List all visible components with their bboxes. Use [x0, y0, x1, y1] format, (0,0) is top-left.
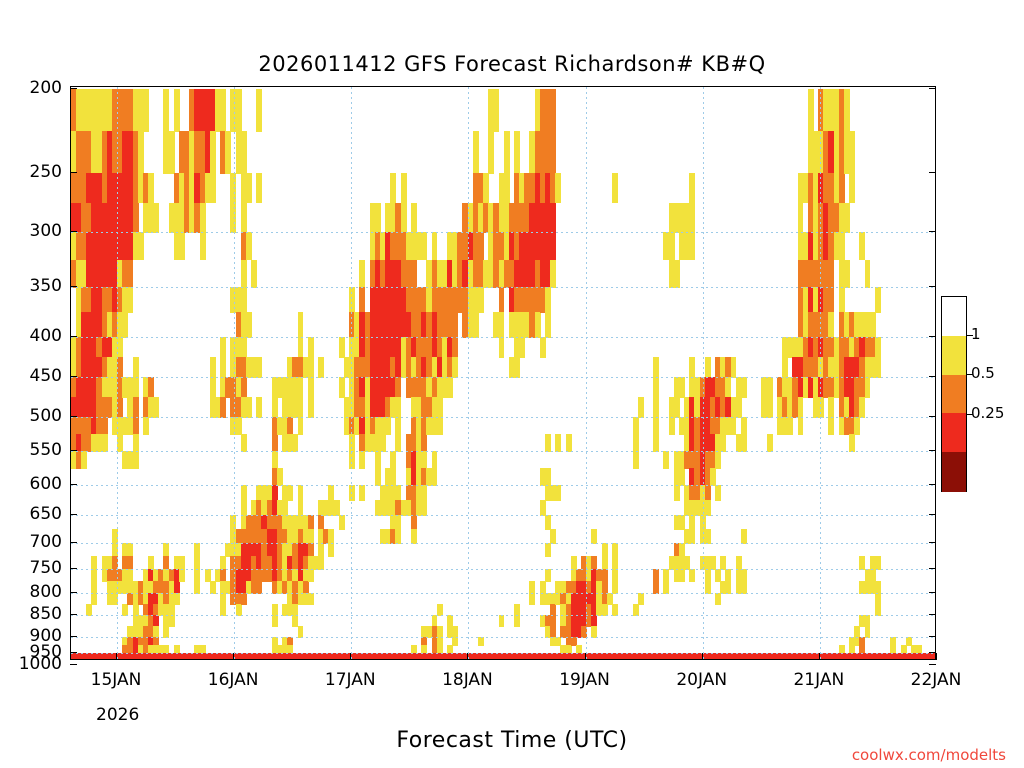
- heatmap-cell: [127, 659, 133, 660]
- heatmap-cell: [602, 659, 608, 660]
- heatmap-cell: [437, 626, 443, 638]
- heatmap-cell: [689, 659, 695, 660]
- heatmap-cell: [612, 659, 618, 660]
- y-axis-tick-right: [929, 636, 936, 637]
- heatmap-cell: [127, 287, 133, 313]
- x-axis-tick-label: 18JAN: [422, 670, 512, 690]
- grid-line-h: [71, 232, 935, 233]
- heatmap-cell: [859, 397, 865, 418]
- heatmap-cell: [844, 260, 850, 288]
- heatmap-cell: [705, 529, 711, 544]
- heatmap-cell: [282, 500, 288, 516]
- heatmap-cell: [705, 357, 711, 378]
- heatmap-cell: [653, 434, 659, 452]
- heatmap-cell: [194, 659, 200, 660]
- heatmap-cell: [442, 659, 448, 660]
- heatmap-cell: [839, 173, 845, 203]
- heatmap-cell: [220, 89, 226, 132]
- heatmap-cell: [514, 659, 520, 660]
- y-axis-tick-label: 350: [0, 276, 62, 296]
- heatmap-cell: [174, 89, 180, 132]
- heatmap-cell: [550, 89, 556, 132]
- heatmap-plot: [70, 86, 936, 660]
- heatmap-cell: [828, 659, 834, 660]
- heatmap-cell: [828, 260, 834, 288]
- heatmap-cell: [246, 173, 252, 203]
- colorbar: [941, 296, 967, 492]
- heatmap-cell: [499, 659, 505, 660]
- heatmap-cell: [849, 434, 855, 452]
- heatmap-cell: [133, 434, 139, 452]
- heatmap-cell: [359, 485, 365, 501]
- colorbar-tick-label: 0.25: [971, 404, 1004, 422]
- heatmap-cell: [354, 659, 360, 660]
- heatmap-cell: [798, 417, 804, 435]
- y-axis-tick-label: 200: [0, 78, 62, 98]
- heatmap-cell: [741, 417, 747, 435]
- heatmap-cell: [710, 659, 716, 660]
- heatmap-cell: [679, 543, 685, 557]
- heatmap-cell: [127, 556, 133, 570]
- heatmap-cell: [493, 659, 499, 660]
- heatmap-cell: [334, 500, 340, 516]
- heatmap-cell: [328, 485, 334, 501]
- heatmap-cell: [571, 659, 577, 660]
- heatmap-cell: [179, 659, 185, 660]
- colorbar-tick-label: 1: [971, 325, 981, 343]
- heatmap-cell: [401, 173, 407, 203]
- heatmap-cell: [689, 173, 695, 203]
- heatmap-cell: [602, 569, 608, 582]
- heatmap-cell: [447, 615, 453, 627]
- heatmap-cell: [133, 203, 139, 233]
- grid-line-h: [71, 569, 935, 570]
- heatmap-cell: [741, 569, 747, 582]
- heatmap-cell: [91, 569, 97, 582]
- heatmap-cell: [318, 543, 324, 557]
- y-axis-tick: [70, 664, 77, 665]
- y-axis-tick-label: 450: [0, 366, 62, 386]
- heatmap-cell: [725, 659, 731, 660]
- heatmap-cell: [339, 515, 345, 530]
- heatmap-cell: [71, 659, 77, 660]
- y-axis-tick-label: 600: [0, 474, 62, 494]
- heatmap-cell: [256, 581, 262, 594]
- heatmap-cell: [653, 397, 659, 418]
- heatmap-cell: [143, 417, 149, 435]
- heatmap-cell: [375, 203, 381, 233]
- heatmap-cell: [921, 659, 927, 660]
- heatmap-cell: [669, 417, 675, 435]
- heatmap-cell: [241, 659, 247, 660]
- heatmap-cell: [679, 377, 685, 398]
- y-axis-tick-label: 850: [0, 604, 62, 624]
- heatmap-cell: [96, 659, 102, 660]
- heatmap-cell: [303, 581, 309, 594]
- y-axis-tick: [70, 484, 77, 485]
- heatmap-cell: [437, 604, 443, 616]
- heatmap-cell: [473, 131, 479, 174]
- heatmap-cell: [86, 659, 92, 660]
- heatmap-cell: [499, 287, 505, 313]
- heatmap-cell: [236, 659, 242, 660]
- y-axis-tick-right: [929, 664, 936, 665]
- heatmap-cell: [741, 377, 747, 398]
- heatmap-cell: [519, 337, 525, 358]
- heatmap-cell: [375, 451, 381, 469]
- heatmap-cell: [308, 377, 314, 398]
- heatmap-cell: [473, 312, 479, 338]
- heatmap-cell: [241, 485, 247, 501]
- heatmap-cell: [81, 451, 87, 469]
- heatmap-cell: [663, 581, 669, 594]
- grid-line-v: [820, 87, 821, 659]
- heatmap-cell: [875, 556, 881, 570]
- heatmap-cell: [545, 515, 551, 530]
- heatmap-cell: [370, 659, 376, 660]
- heatmap-cell: [633, 604, 639, 616]
- heatmap-cell: [122, 604, 128, 616]
- heatmap-cell: [148, 659, 154, 660]
- heatmap-cell: [210, 377, 216, 398]
- colorbar-tick-label: 0.5: [971, 364, 995, 382]
- grid-line-h: [71, 337, 935, 338]
- heatmap-cell: [390, 173, 396, 203]
- x-axis-tick: [702, 653, 703, 660]
- heatmap-cell: [225, 659, 231, 660]
- heatmap-cell: [395, 529, 401, 544]
- x-axis-tick-label: 19JAN: [540, 670, 630, 690]
- heatmap-cell: [432, 659, 438, 660]
- heatmap-cell: [292, 659, 298, 660]
- heatmap-cell: [318, 357, 324, 378]
- heatmap-cell: [210, 131, 216, 174]
- heatmap-cell: [854, 626, 860, 638]
- heatmap-cell: [411, 203, 417, 233]
- heatmap-cell: [163, 543, 169, 557]
- heatmap-cell: [385, 417, 391, 435]
- heatmap-cell: [777, 659, 783, 660]
- heatmap-cell: [823, 659, 829, 660]
- grid-line-h: [71, 417, 935, 418]
- heatmap-cell: [148, 377, 154, 398]
- heatmap-cell: [633, 451, 639, 469]
- heatmap-cell: [261, 659, 267, 660]
- heatmap-cell: [839, 287, 845, 313]
- y-axis-tick-right: [929, 614, 936, 615]
- heatmap-cell: [421, 500, 427, 516]
- heatmap-cell: [380, 434, 386, 452]
- heatmap-cell: [308, 515, 314, 530]
- heatmap-cell: [323, 659, 329, 660]
- heatmap-cell: [210, 581, 216, 594]
- y-axis-tick-right: [929, 376, 936, 377]
- heatmap-cell: [287, 417, 293, 435]
- colorbar-segment: [942, 336, 966, 376]
- heatmap-cell: [457, 659, 463, 660]
- heatmap-cell: [689, 357, 695, 378]
- heatmap-cell: [189, 659, 195, 660]
- heatmap-cell: [308, 529, 314, 544]
- heatmap-cell: [741, 434, 747, 452]
- heatmap-cell: [246, 312, 252, 338]
- heatmap-cell: [674, 397, 680, 418]
- heatmap-cell: [514, 604, 520, 616]
- y-axis-tick: [70, 172, 77, 173]
- heatmap-cell: [334, 659, 340, 660]
- y-axis-tick: [70, 286, 77, 287]
- heatmap-cell: [390, 659, 396, 660]
- heatmap-cell: [298, 485, 304, 501]
- heatmap-cell: [514, 615, 520, 627]
- heatmap-cell: [591, 626, 597, 638]
- heatmap-cell: [705, 485, 711, 501]
- heatmap-cell: [411, 515, 417, 530]
- heatmap-cell: [328, 659, 334, 660]
- heatmap-cell: [133, 659, 139, 660]
- heatmap-cell: [241, 593, 247, 605]
- x-axis-tick: [936, 653, 937, 660]
- heatmap-cell: [473, 659, 479, 660]
- heatmap-cell: [194, 569, 200, 582]
- heatmap-cell: [432, 451, 438, 469]
- heatmap-cell: [102, 659, 108, 660]
- heatmap-cell: [612, 569, 618, 582]
- heatmap-cell: [540, 581, 546, 594]
- heatmap-cell: [638, 397, 644, 418]
- heatmap-cell: [241, 131, 247, 174]
- heatmap-cell: [731, 357, 737, 378]
- heatmap-cell: [653, 581, 659, 594]
- heatmap-cell: [663, 659, 669, 660]
- x-axis-tick-label: 16JAN: [188, 670, 278, 690]
- heatmap-cell: [875, 604, 881, 616]
- heatmap-cell: [169, 659, 175, 660]
- heatmap-cell: [550, 260, 556, 288]
- heatmap-cell: [292, 604, 298, 616]
- heatmap-cell: [395, 377, 401, 398]
- colorbar-tick: [967, 374, 973, 375]
- y-axis-tick-right: [929, 450, 936, 451]
- heatmap-cell: [741, 529, 747, 544]
- heatmap-cell: [715, 569, 721, 582]
- heatmap-cell: [179, 232, 185, 260]
- y-axis-tick-right: [929, 592, 936, 593]
- heatmap-cell: [205, 659, 211, 660]
- heatmap-cell: [153, 615, 159, 627]
- heatmap-cell: [153, 626, 159, 638]
- heatmap-cell: [272, 451, 278, 469]
- heatmap-cell: [421, 434, 427, 452]
- y-axis-tick: [70, 652, 77, 653]
- y-axis-tick: [70, 416, 77, 417]
- heatmap-cell: [421, 451, 427, 469]
- x-axis-tick: [467, 653, 468, 660]
- heatmap-cell: [225, 131, 231, 174]
- heatmap-cell: [91, 556, 97, 570]
- heatmap-cell: [906, 659, 912, 660]
- heatmap-cell: [885, 659, 891, 660]
- heatmap-cell: [715, 593, 721, 605]
- heatmap-cell: [375, 659, 381, 660]
- heatmap-cell: [591, 529, 597, 544]
- y-axis-tick-label: 750: [0, 558, 62, 578]
- heatmap-cell: [478, 659, 484, 660]
- heatmap-cell: [674, 260, 680, 288]
- heatmap-cell: [200, 232, 206, 260]
- heatmap-cell: [256, 659, 262, 660]
- heatmap-cell: [91, 659, 97, 660]
- heatmap-cell: [761, 659, 767, 660]
- x-axis-tick: [233, 653, 234, 660]
- heatmap-cell: [854, 417, 860, 435]
- heatmap-cell: [133, 377, 139, 398]
- heatmap-cell: [153, 203, 159, 233]
- heatmap-cell: [715, 659, 721, 660]
- heatmap-cell: [411, 529, 417, 544]
- heatmap-cell: [163, 626, 169, 638]
- heatmap-cell: [798, 203, 804, 233]
- heatmap-cell: [220, 397, 226, 418]
- heatmap-cell: [401, 659, 407, 660]
- x-axis-tick: [116, 653, 117, 660]
- heatmap-cell: [241, 377, 247, 398]
- heatmap-cell: [241, 203, 247, 233]
- heatmap-cell: [612, 556, 618, 570]
- heatmap-cell: [375, 468, 381, 486]
- heatmap-cell: [705, 569, 711, 582]
- heatmap-cell: [328, 529, 334, 544]
- heatmap-cell: [395, 397, 401, 418]
- heatmap-cell: [535, 659, 541, 660]
- heatmap-cell: [169, 615, 175, 627]
- heatmap-cell: [318, 659, 324, 660]
- heatmap-cell: [390, 468, 396, 486]
- heatmap-cell: [272, 485, 278, 501]
- heatmap-cell: [452, 637, 458, 646]
- heatmap-cell: [158, 659, 164, 660]
- heatmap-cell: [246, 659, 252, 660]
- heatmap-cell: [210, 357, 216, 378]
- heatmap-cell: [844, 89, 850, 132]
- x-axis-tick-label: 21JAN: [774, 670, 864, 690]
- grid-line-h: [71, 593, 935, 594]
- y-axis-tick-label: 650: [0, 504, 62, 524]
- heatmap-cell: [478, 287, 484, 313]
- y-axis-tick: [70, 542, 77, 543]
- y-axis-tick: [70, 450, 77, 451]
- heatmap-cell: [591, 659, 597, 660]
- heatmap-cell: [205, 569, 211, 582]
- y-axis-tick: [70, 592, 77, 593]
- heatmap-cell: [488, 131, 494, 174]
- heatmap-cell: [91, 593, 97, 605]
- heatmap-cell: [715, 485, 721, 501]
- heatmap-cell: [731, 417, 737, 435]
- heatmap-cell: [148, 556, 154, 570]
- heatmap-cell: [653, 357, 659, 378]
- heatmap-cell: [272, 434, 278, 452]
- y-axis-tick-label: 550: [0, 440, 62, 460]
- heatmap-cell: [308, 357, 314, 378]
- heatmap-cell: [653, 569, 659, 582]
- heatmap-cell: [617, 659, 623, 660]
- heatmap-cell: [241, 260, 247, 288]
- heatmap-cell: [859, 659, 865, 660]
- heatmap-cell: [545, 434, 551, 452]
- grid-line-v: [117, 87, 118, 659]
- y-axis-tick-right: [929, 542, 936, 543]
- y-axis-tick-label: 800: [0, 582, 62, 602]
- heatmap-cell: [602, 581, 608, 594]
- heatmap-cell: [633, 417, 639, 435]
- heatmap-cell: [870, 312, 876, 338]
- heatmap-cell: [359, 260, 365, 288]
- heatmap-cell: [359, 451, 365, 469]
- heatmap-cell: [653, 377, 659, 398]
- heatmap-cell: [545, 543, 551, 557]
- heatmap-cell: [174, 593, 180, 605]
- heatmap-cell: [122, 312, 128, 338]
- grid-line-h: [71, 515, 935, 516]
- heatmap-cell: [684, 659, 690, 660]
- heatmap-cell: [663, 569, 669, 582]
- heatmap-cell: [133, 397, 139, 418]
- heatmap-cell: [313, 659, 319, 660]
- y-axis-tick: [70, 231, 77, 232]
- heatmap-cell: [524, 659, 530, 660]
- heatmap-cell: [875, 593, 881, 605]
- y-axis-tick-right: [929, 416, 936, 417]
- heatmap-cell: [174, 659, 180, 660]
- heatmap-cell: [689, 203, 695, 233]
- heatmap-cell: [267, 659, 273, 660]
- heatmap-cell: [220, 357, 226, 378]
- heatmap-cell: [550, 615, 556, 627]
- heatmap-cell: [272, 604, 278, 616]
- heatmap-cell: [287, 659, 293, 660]
- heatmap-cell: [220, 604, 226, 616]
- heatmap-cell: [679, 515, 685, 530]
- heatmap-cell: [76, 659, 82, 660]
- heatmap-cell: [194, 556, 200, 570]
- heatmap-cell: [437, 659, 443, 660]
- heatmap-cell: [411, 260, 417, 288]
- y-axis-tick-right: [929, 172, 936, 173]
- heatmap-cells: [71, 87, 935, 659]
- heatmap-cell: [591, 615, 597, 627]
- heatmap-cell: [870, 659, 876, 660]
- heatmap-cell: [839, 659, 845, 660]
- grid-line-v: [703, 87, 704, 659]
- heatmap-cell: [602, 556, 608, 570]
- heatmap-cell: [308, 593, 314, 605]
- heatmap-cell: [220, 569, 226, 582]
- colorbar-segment: [942, 452, 966, 492]
- heatmap-cell: [875, 581, 881, 594]
- grid-line-v: [234, 87, 235, 659]
- heatmap-cell: [308, 337, 314, 358]
- heatmap-cell: [787, 659, 793, 660]
- heatmap-cell: [220, 659, 226, 660]
- heatmap-cell: [298, 659, 304, 660]
- heatmap-cell: [256, 397, 262, 418]
- heatmap-cell: [844, 203, 850, 233]
- heatmap-cell: [107, 659, 113, 660]
- heatmap-cell: [875, 659, 881, 660]
- heatmap-cell: [529, 581, 535, 594]
- heatmap-cell: [194, 543, 200, 557]
